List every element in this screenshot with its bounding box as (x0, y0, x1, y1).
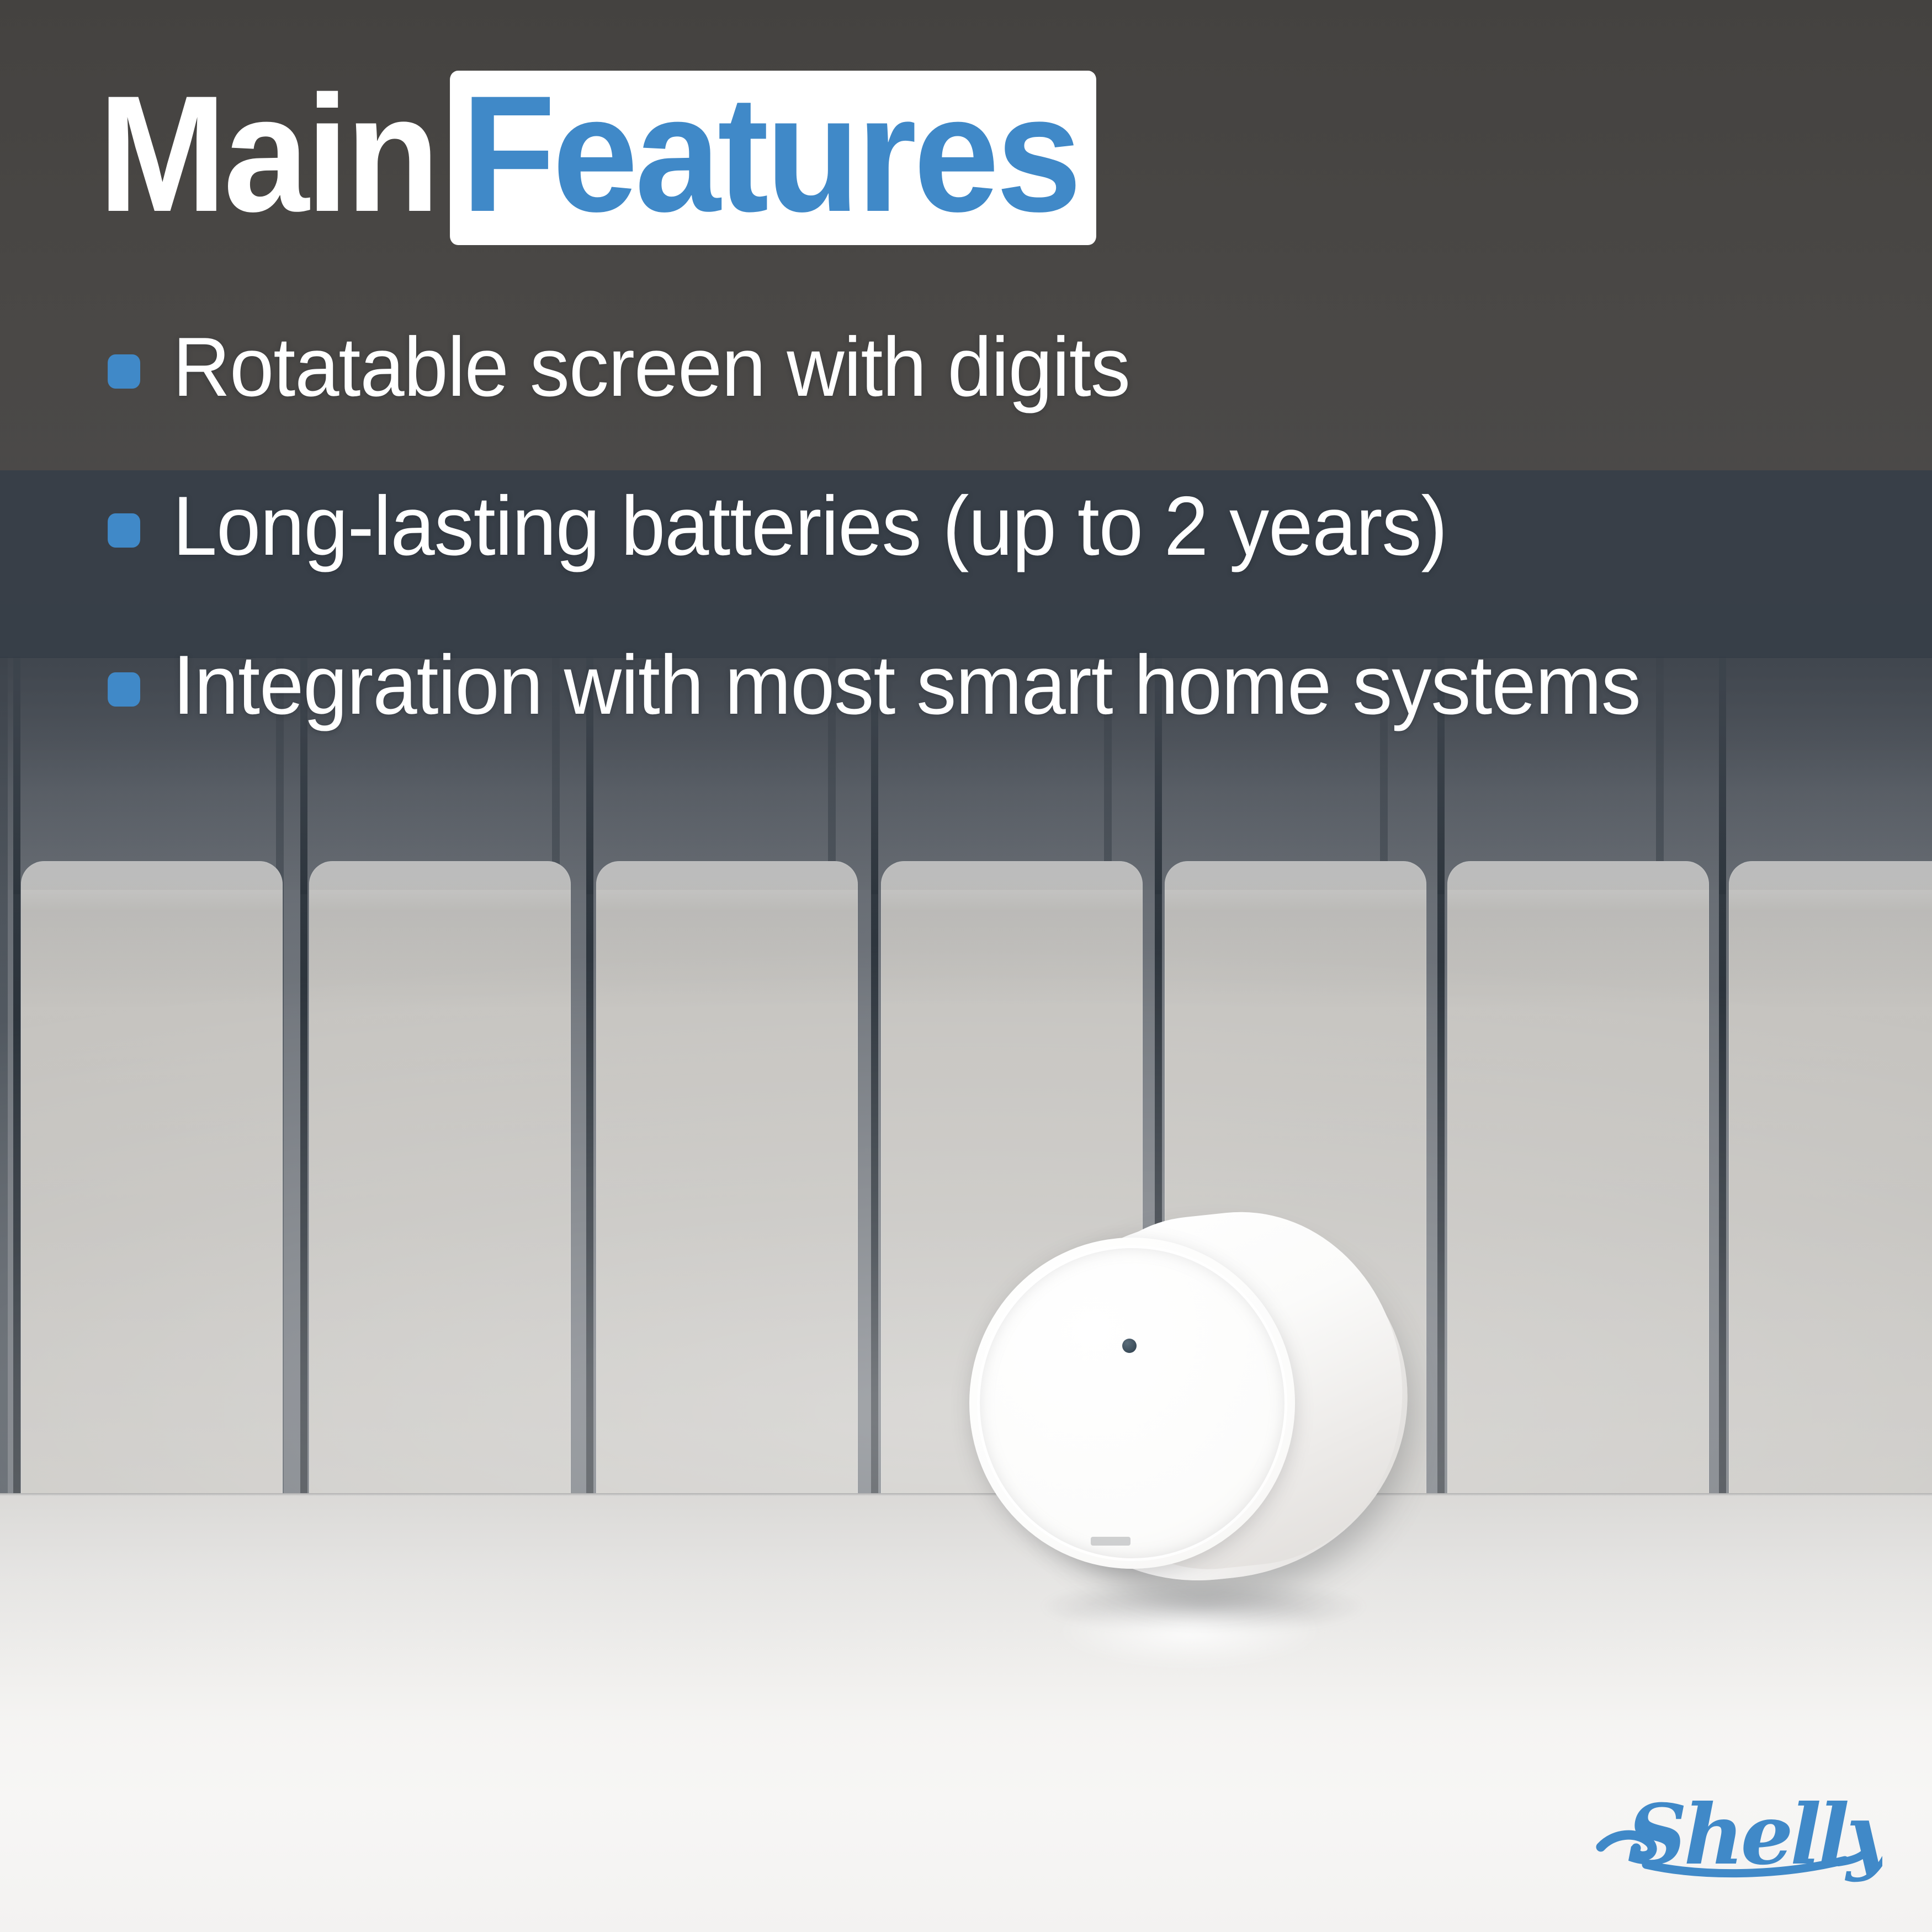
title-plain: Main (98, 61, 437, 246)
shelly-logo-icon: Shelly (1595, 1782, 1882, 1892)
title-highlight: Features (450, 71, 1096, 245)
marketing-graphic: MainFeatures Rotatable screen with digit… (0, 0, 1932, 1932)
bullet-marker-icon (108, 354, 140, 389)
device-notch (1091, 1537, 1130, 1546)
feature-text: Integration with most smart home systems (173, 638, 1766, 733)
list-item: Rotatable screen with digits (98, 320, 1766, 415)
list-item: Long-lasting batteries (up to 2 years) (98, 479, 1766, 574)
bullet-marker-icon (108, 672, 140, 707)
radiator-fin (1729, 861, 1932, 1496)
page-title: MainFeatures (98, 71, 1096, 245)
device-reflection (1016, 1590, 1402, 1695)
radiator-fin (21, 861, 283, 1496)
bullet-marker-icon (108, 513, 140, 548)
device-face-ring (977, 1245, 1287, 1561)
feature-list: Rotatable screen with digits Long-lastin… (98, 320, 1854, 797)
feature-text: Long-lasting batteries (up to 2 years) (173, 479, 1766, 574)
shelly-logo: Shelly (1595, 1782, 1882, 1892)
list-item: Integration with most smart home systems (98, 638, 1766, 733)
radiator-fin (1447, 861, 1709, 1496)
feature-text: Rotatable screen with digits (173, 320, 1766, 415)
radiator-fin (309, 861, 571, 1496)
shelly-device (938, 1203, 1446, 1623)
status-led-icon (1122, 1339, 1137, 1353)
radiator-fin (596, 861, 858, 1496)
